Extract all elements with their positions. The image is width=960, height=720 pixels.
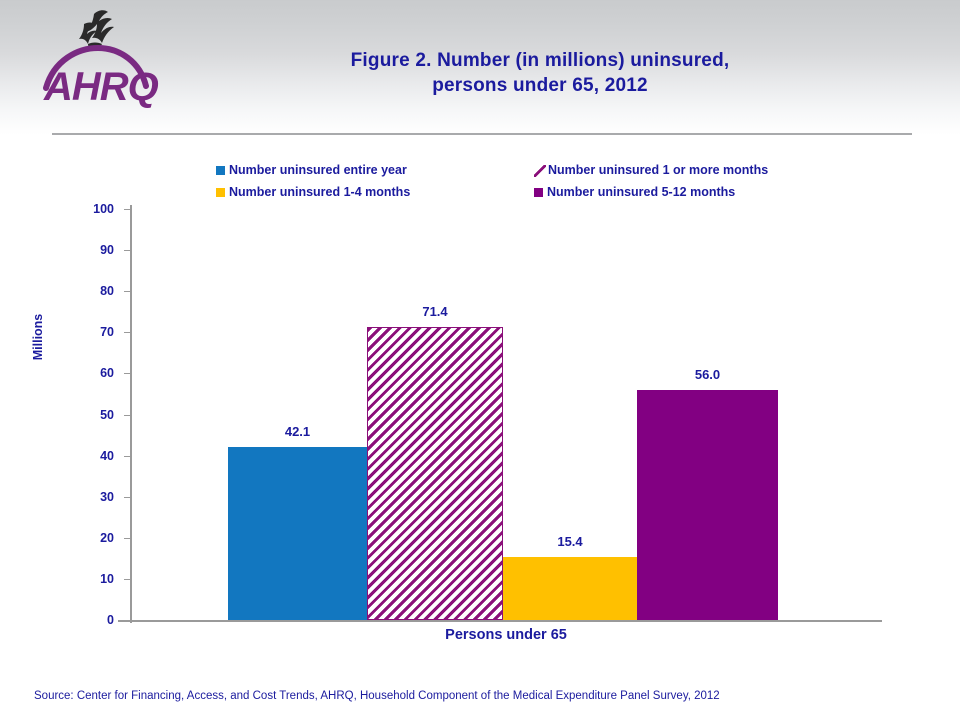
y-axis-tick-labels: [74, 0, 118, 720]
bar-4: [637, 390, 778, 620]
y-axis-tick-label: 40: [74, 450, 114, 462]
legend-swatch-purple: [534, 188, 543, 197]
header-divider: [52, 133, 912, 135]
bar-3: [503, 557, 637, 620]
y-axis-tick-mark: [124, 373, 131, 374]
legend-item-5-12-months: Number uninsured 5-12 months: [534, 185, 735, 199]
legend-item-one-or-more-months: Number uninsured 1 or more months: [534, 163, 768, 177]
legend-swatch-gold: [216, 188, 225, 197]
bar-value-label: 15.4: [503, 534, 637, 549]
y-axis-tick-label: 80: [74, 285, 114, 297]
y-axis-tick-mark: [124, 250, 131, 251]
y-axis-tick-mark: [124, 209, 131, 210]
legend-item-1-4-months: Number uninsured 1-4 months: [216, 185, 410, 199]
y-axis-tick-label: 20: [74, 532, 114, 544]
y-axis-tick-label: 90: [74, 244, 114, 256]
y-axis-tick-label: 10: [74, 573, 114, 585]
legend-swatch-hatch: [534, 165, 544, 175]
y-axis-tick-mark: [124, 538, 131, 539]
y-axis-tick-label: 0: [74, 614, 114, 626]
bar-1: [228, 447, 367, 620]
page-title: Figure 2. Number (in millions) uninsured…: [190, 48, 890, 98]
bar-value-label: 71.4: [367, 304, 503, 319]
bar-2: [367, 327, 503, 620]
y-axis-tick-mark: [124, 620, 131, 621]
y-axis-tick-label: 70: [74, 326, 114, 338]
y-axis-tick-label: 50: [74, 409, 114, 421]
plot-area: 42.171.415.456.0: [130, 209, 882, 620]
x-axis-title: Persons under 65: [130, 627, 882, 643]
legend-item-entire-year: Number uninsured entire year: [216, 163, 407, 177]
y-axis-tick-mark: [124, 415, 131, 416]
chart-legend: Number uninsured entire year Number unin…: [216, 163, 836, 205]
y-axis-tick-label: 30: [74, 491, 114, 503]
title-line-2: persons under 65, 2012: [190, 73, 890, 98]
bar-value-label: 42.1: [228, 424, 367, 439]
x-axis-line: [118, 620, 882, 622]
y-axis-tick-mark: [124, 579, 131, 580]
y-axis-tick-label: 100: [74, 203, 114, 215]
y-axis-tick-mark: [124, 332, 131, 333]
y-axis-tick-label: 60: [74, 367, 114, 379]
bar-value-label: 56.0: [637, 367, 778, 382]
legend-label-5-12-months: Number uninsured 5-12 months: [547, 185, 735, 199]
source-note: Source: Center for Financing, Access, an…: [34, 690, 720, 702]
y-axis-tick-mark: [124, 456, 131, 457]
y-axis-title: Millions: [31, 292, 45, 382]
y-axis-tick-mark: [124, 291, 131, 292]
legend-label-entire-year: Number uninsured entire year: [229, 163, 407, 177]
legend-label-one-or-more-months: Number uninsured 1 or more months: [548, 163, 768, 177]
y-axis-tick-mark: [124, 497, 131, 498]
legend-swatch-blue: [216, 166, 225, 175]
legend-label-1-4-months: Number uninsured 1-4 months: [229, 185, 410, 199]
title-line-1: Figure 2. Number (in millions) uninsured…: [190, 48, 890, 73]
